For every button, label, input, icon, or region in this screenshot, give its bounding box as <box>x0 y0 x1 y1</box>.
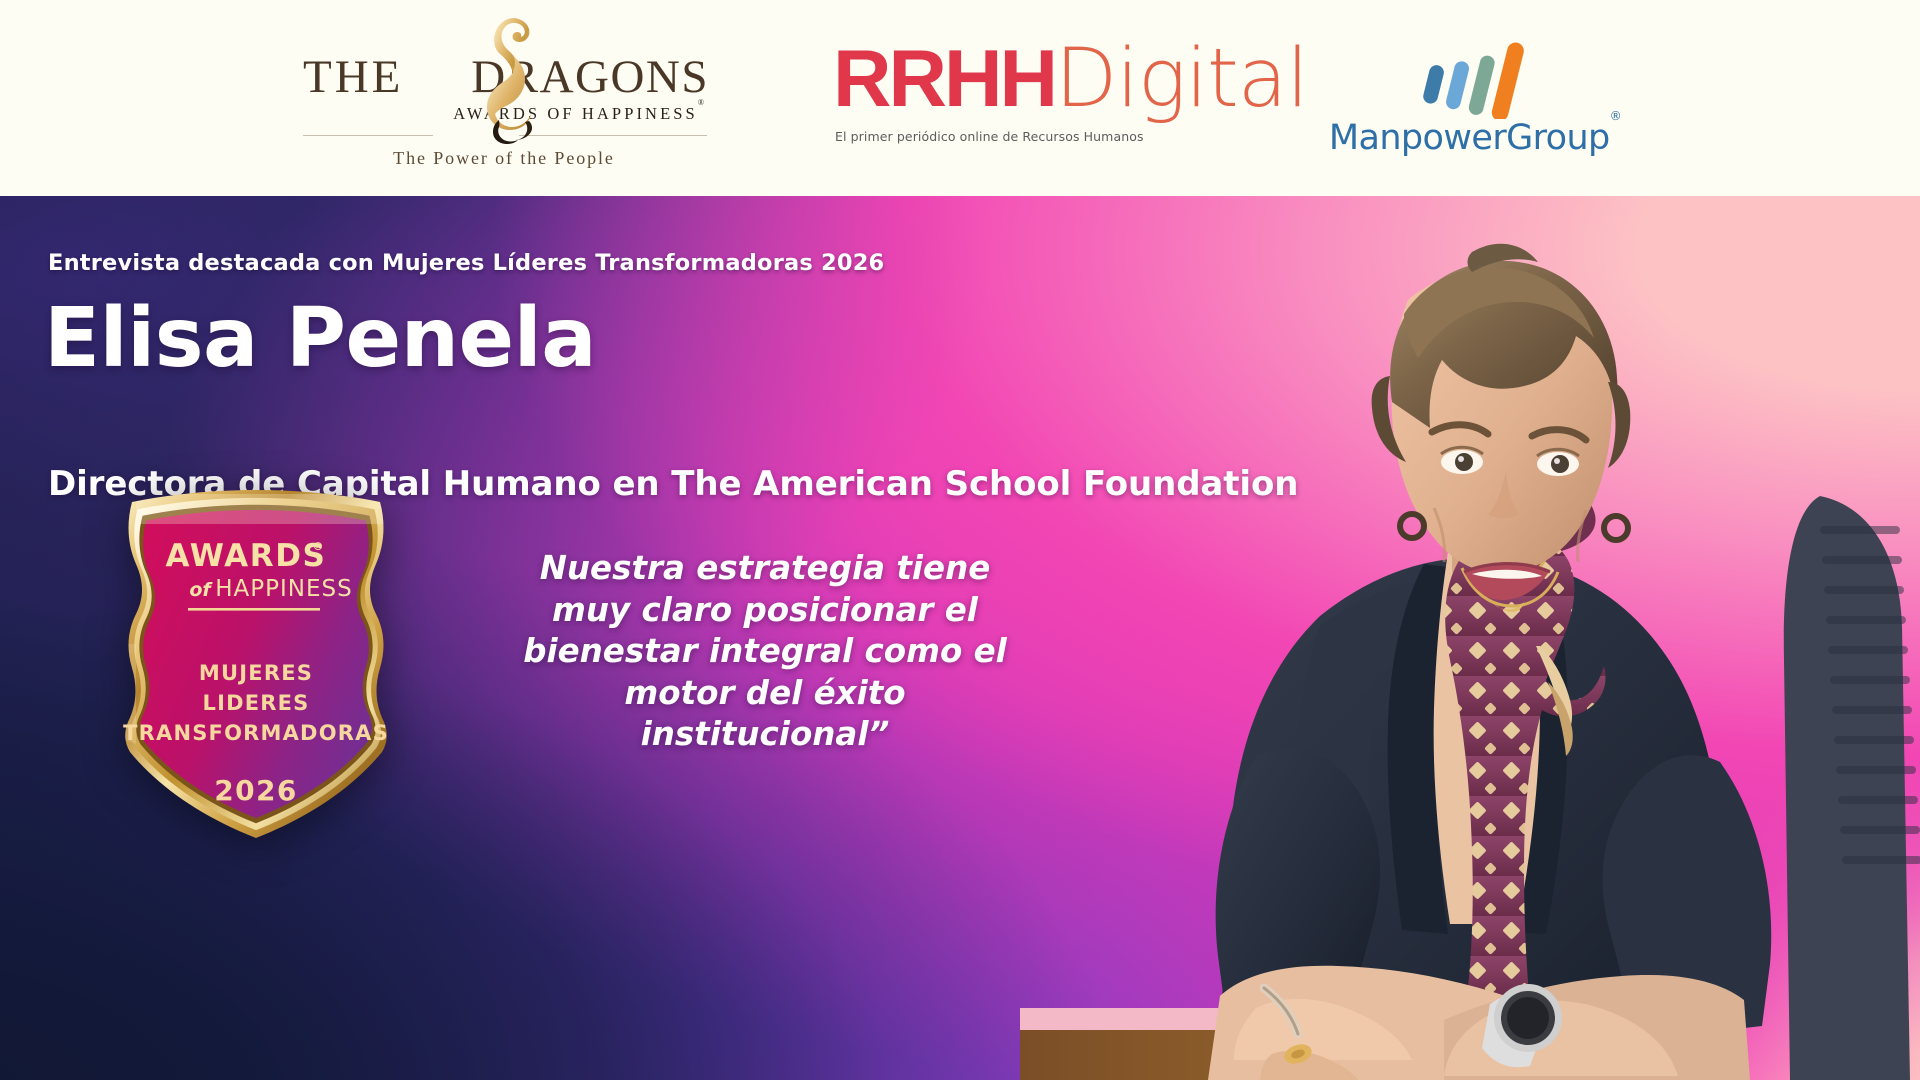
elisa-penela-photo <box>1020 196 1920 1080</box>
logo-rrhh-digital[interactable]: RRHHDigital El primer periódico online d… <box>833 33 1205 163</box>
manpowergroup-wordmark: ManpowerGroup® <box>1325 121 1625 156</box>
logo-the-dragons[interactable]: THE DRAGONS <box>295 8 713 188</box>
award-badge: AWARDS ® of HAPPINESS MUJERES LIDERES TR… <box>96 484 416 844</box>
hero-banner: Entrevista destacada con Mujeres Líderes… <box>0 196 1920 1080</box>
eyebrow-text: Entrevista destacada con Mujeres Líderes… <box>48 250 884 276</box>
badge-category-line1: MUJERES <box>199 661 313 685</box>
badge-category-line3: TRANSFORMADORAS <box>123 721 389 745</box>
logo-manpowergroup[interactable]: ManpowerGroup® <box>1325 23 1625 173</box>
portrait-figure <box>1020 196 1920 1080</box>
awards-of-happiness-shield: AWARDS ® of HAPPINESS MUJERES LIDERES TR… <box>96 484 416 844</box>
dragons-rule-left <box>303 135 433 136</box>
manpowergroup-bars-icon <box>1421 29 1541 119</box>
dragons-the-text: THE <box>295 54 403 101</box>
badge-registered-mark: ® <box>313 540 324 553</box>
sponsor-logo-bar: THE DRAGONS <box>0 0 1920 196</box>
badge-year: 2026 <box>214 774 298 807</box>
badge-of: of <box>189 579 213 601</box>
rrhh-tagline: El primer periódico online de Recursos H… <box>835 129 1144 144</box>
badge-happiness: HAPPINESS <box>215 576 353 602</box>
badge-title: AWARDS <box>166 538 327 574</box>
gold-flame-trophy-icon <box>471 14 551 146</box>
pull-quote: Nuestra estrategia tiene muy claro posic… <box>505 548 1025 756</box>
interview-promo-card: THE DRAGONS <box>0 0 1920 1080</box>
page-title: Elisa Penela <box>44 290 596 388</box>
rrhh-wordmark: RRHHDigital <box>833 39 1308 120</box>
dragons-tagline: The Power of the People <box>295 148 713 169</box>
badge-divider <box>188 608 320 611</box>
badge-category-line2: LIDERES <box>202 691 309 715</box>
